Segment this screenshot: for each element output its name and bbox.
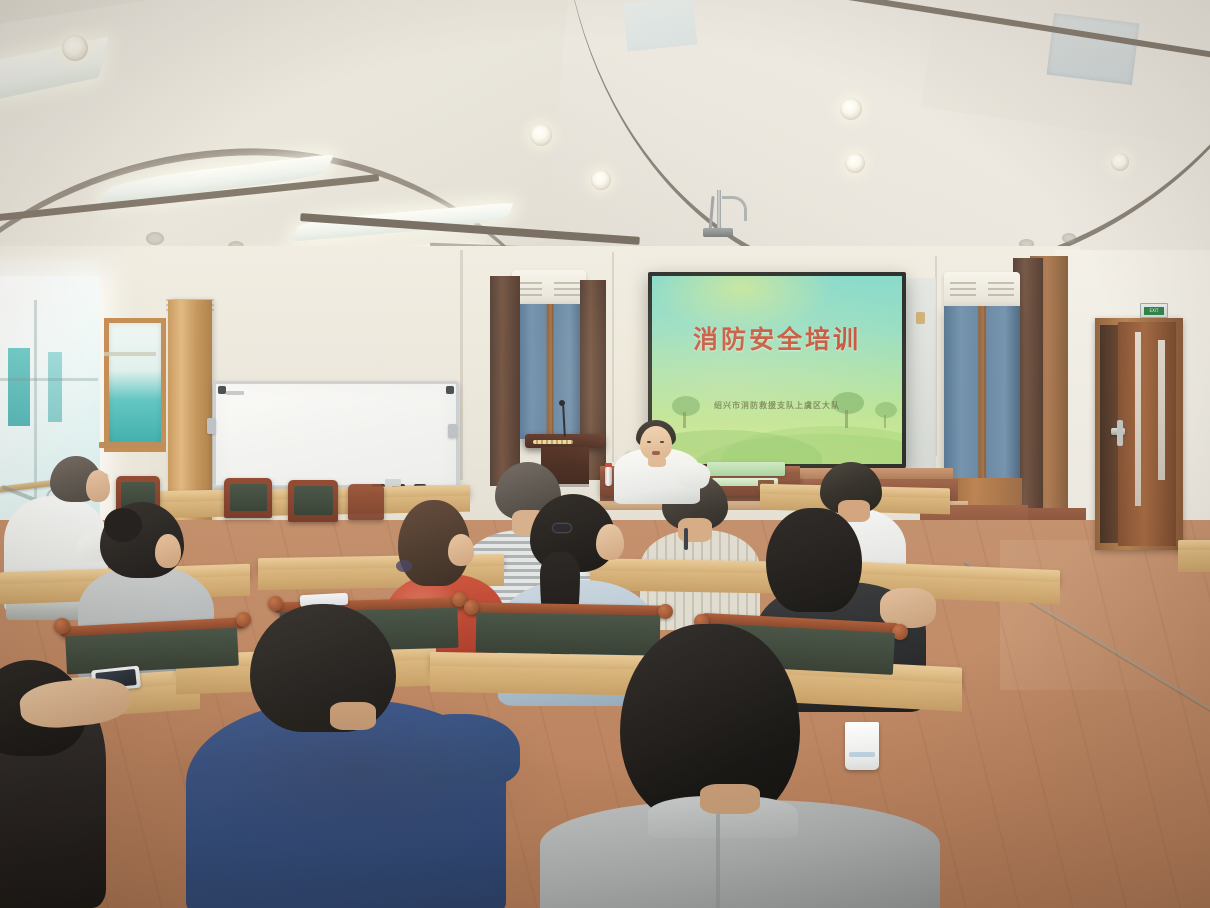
projector-mount-pole (717, 190, 721, 230)
downlight-6-icon (146, 232, 164, 245)
whiteboard-clip-left (207, 418, 216, 434)
chair-knob-left-1 (54, 618, 70, 634)
downlight-4-icon (840, 98, 862, 120)
downlight-11-icon (1062, 233, 1076, 243)
cap-line-r3 (950, 294, 976, 296)
window-small-sill (99, 442, 163, 448)
person-checked-lanyard (684, 528, 688, 550)
paper-cup (845, 722, 879, 770)
chair-knob-left-2 (236, 612, 251, 627)
person-gray-polo-seam (716, 812, 720, 908)
cap-line-r6 (988, 294, 1014, 296)
door-leaf[interactable] (1118, 322, 1176, 546)
window-small-sash-bar (104, 352, 156, 356)
cap-line-r2 (950, 288, 976, 290)
chair-pad-3 (294, 486, 333, 515)
downlight-1-icon (62, 35, 88, 61)
whiteboard-corner-tr (446, 386, 454, 394)
foreground-shadow (150, 690, 570, 850)
person-red-floral-face (448, 534, 474, 566)
person-white-tshirt-face (86, 470, 110, 502)
whiteboard-clip-right (448, 424, 457, 438)
downlight-2-icon (530, 124, 552, 146)
cap-line-r1 (950, 282, 976, 284)
door-glass-strip-2 (1158, 340, 1165, 480)
chair-knob-center-1 (268, 596, 283, 611)
person-gray-polo-neck (700, 784, 760, 814)
paper-cup-band (849, 752, 875, 757)
exit-sign: EXIT (1140, 303, 1168, 318)
chair-pad-2 (230, 484, 267, 511)
chair-back-4[interactable] (348, 484, 384, 520)
person-gray-bun-face (155, 534, 181, 568)
classroom-photo-scene: 消防安全培训 绍兴市消防救援支队上虞区大队 EXIT (0, 0, 1210, 908)
downlight-9-icon (1111, 153, 1129, 171)
projector-mount-arm (722, 196, 747, 221)
door-lock-plate (1117, 420, 1123, 446)
door-glass-strip-1 (1135, 332, 1141, 506)
person-red-floral-hairtie (396, 560, 412, 572)
downlight-3-icon (591, 170, 611, 190)
whiteboard-eraser (385, 479, 401, 486)
window-mullion-2 (0, 378, 98, 381)
whiteboard-corner-tl (218, 386, 226, 394)
decor-column-right-cap (944, 272, 1020, 306)
desk-right-edge-front (1178, 550, 1210, 572)
window-left-teal-panel (8, 348, 30, 426)
decor-column-right (944, 306, 1020, 479)
screen-glow (520, 250, 940, 510)
wall-seam-left (460, 250, 463, 480)
person-blue-pony-hair-clip (553, 524, 571, 532)
whiteboard-logo (226, 391, 244, 395)
wall-dark-panel-left (490, 276, 520, 486)
person-gray-bun-knot (104, 508, 142, 542)
chair-pad-right-row1 (476, 612, 661, 655)
downlight-5-icon (845, 153, 865, 173)
exit-sign-label: EXIT (1144, 307, 1164, 315)
projector-mount-plate (703, 228, 733, 237)
window-left-teal-panel-2 (48, 352, 62, 422)
cap-line-r5 (988, 288, 1014, 290)
person-blue-pony-face (596, 524, 624, 560)
person-black-right-hair (766, 508, 862, 612)
cap-line-r4 (988, 282, 1014, 284)
window-small-right (104, 318, 166, 452)
